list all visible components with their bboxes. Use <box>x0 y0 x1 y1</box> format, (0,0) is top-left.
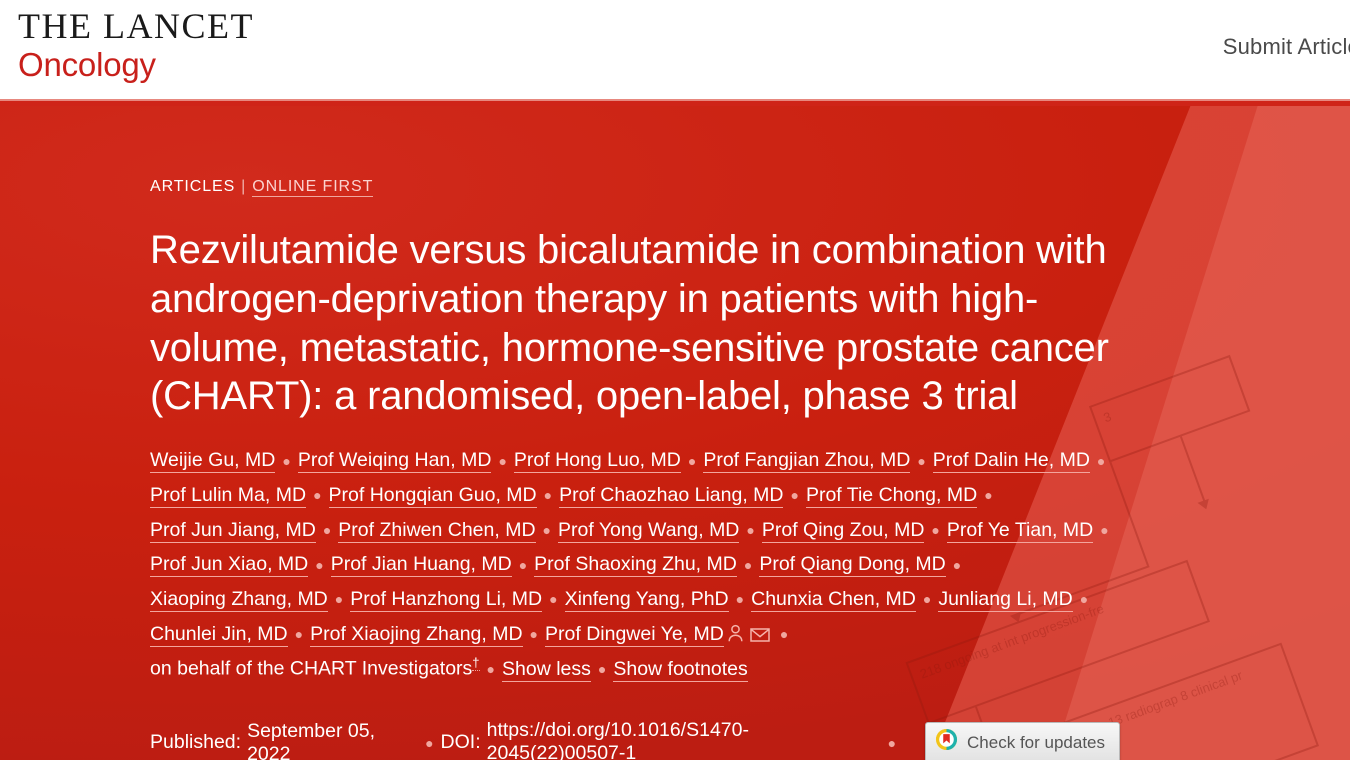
author-link[interactable]: Prof Tie Chong, MD <box>806 484 977 508</box>
crossmark-check-for-updates-button[interactable]: Check for updates <box>925 722 1120 760</box>
author-link[interactable]: Prof Yong Wang, MD <box>558 519 739 543</box>
author-separator-dot: ● <box>790 483 798 508</box>
author-separator-dot: ● <box>315 553 323 578</box>
kicker-online-first-link[interactable]: ONLINE FIRST <box>252 178 373 197</box>
author-separator-dot: ● <box>498 449 506 474</box>
published-date: September 05, 2022 <box>247 720 416 760</box>
author-link[interactable]: Prof Fangjian Zhou, MD <box>703 449 910 473</box>
doi-link[interactable]: https://doi.org/10.1016/S1470-2045(22)00… <box>487 719 881 760</box>
published-label: Published: <box>150 731 241 754</box>
author-separator-dot: ● <box>295 622 303 647</box>
author-link[interactable]: Prof Qiang Dong, MD <box>759 553 945 577</box>
author-link[interactable]: Chunlei Jin, MD <box>150 623 288 647</box>
author-separator-dot: ● <box>487 657 495 682</box>
author-link[interactable]: Prof Lulin Ma, MD <box>150 484 306 508</box>
author-separator-dot: ● <box>736 587 744 612</box>
submit-article-link[interactable]: Submit Article <box>1223 34 1350 59</box>
author-separator-dot: ● <box>544 483 552 508</box>
article-hero: 3 218 ongoing at int progression-fre 27 … <box>0 106 1350 760</box>
site-header: THE LANCET Oncology Submit Article <box>0 0 1350 106</box>
author-separator-dot: ● <box>1097 449 1105 474</box>
author-separator-dot: ● <box>282 449 290 474</box>
person-icon[interactable] <box>727 624 744 643</box>
brand-title: THE LANCET <box>18 8 254 44</box>
author-separator-dot: ● <box>984 483 992 508</box>
author-separator-dot: ● <box>519 553 527 578</box>
author-link[interactable]: Xiaoping Zhang, MD <box>150 588 328 612</box>
author-link[interactable]: Junliang Li, MD <box>938 588 1072 612</box>
doi-label: DOI: <box>441 731 481 754</box>
author-separator-dot: ● <box>335 587 343 612</box>
show-footnotes-link[interactable]: Show footnotes <box>613 658 747 682</box>
author-separator-dot: ● <box>953 553 961 578</box>
author-separator-dot: ● <box>1080 587 1088 612</box>
author-separator-dot: ● <box>549 587 557 612</box>
artwork-connector <box>1180 436 1206 502</box>
author-link[interactable]: Prof Zhiwen Chen, MD <box>338 519 535 543</box>
author-link[interactable]: Prof Hongqian Guo, MD <box>329 484 537 508</box>
artwork-arrow <box>1198 499 1212 512</box>
author-separator-dot: ● <box>931 518 939 543</box>
author-link[interactable]: Prof Qing Zou, MD <box>762 519 925 543</box>
site-logo[interactable]: THE LANCET Oncology <box>18 8 254 81</box>
author-separator-dot: ● <box>543 518 551 543</box>
crossmark-icon <box>935 728 958 757</box>
kicker-separator: | <box>241 178 246 195</box>
author-separator-dot: ● <box>688 449 696 474</box>
author-link[interactable]: Prof Jian Huang, MD <box>331 553 512 577</box>
author-link[interactable]: Prof Ye Tian, MD <box>947 519 1093 543</box>
author-separator-dot: ● <box>530 622 538 647</box>
group-authorship-dagger[interactable]: † <box>472 655 479 671</box>
article-meta: Published: September 05, 2022 ● DOI: htt… <box>150 719 1120 760</box>
author-separator-dot: ● <box>744 553 752 578</box>
header-actions: Submit Article <box>1223 34 1350 60</box>
author-separator-dot: ● <box>1100 518 1108 543</box>
author-link[interactable]: Prof Shaoxing Zhu, MD <box>534 553 737 577</box>
brand-subtitle: Oncology <box>18 48 254 81</box>
author-link[interactable]: Prof Hong Luo, MD <box>514 449 681 473</box>
envelope-icon[interactable] <box>750 627 770 643</box>
author-link[interactable]: Prof Jun Jiang, MD <box>150 519 316 543</box>
author-link[interactable]: Prof Hanzhong Li, MD <box>350 588 542 612</box>
author-link[interactable]: Prof Dalin He, MD <box>933 449 1090 473</box>
author-link[interactable]: Chunxia Chen, MD <box>751 588 916 612</box>
page-title: Rezvilutamide versus bicalutamide in com… <box>150 226 1120 421</box>
author-link[interactable]: Weijie Gu, MD <box>150 449 275 473</box>
author-link[interactable]: Prof Jun Xiao, MD <box>150 553 308 577</box>
author-separator-dot: ● <box>313 483 321 508</box>
author-list: Weijie Gu, MD●Prof Weiqing Han, MD●Prof … <box>150 443 1120 686</box>
crossmark-label: Check for updates <box>967 733 1105 753</box>
author-link[interactable]: Prof Xiaojing Zhang, MD <box>310 623 522 647</box>
meta-separator-dot: ● <box>888 735 896 751</box>
author-link[interactable]: Prof Chaozhao Liang, MD <box>559 484 783 508</box>
author-link-corresponding[interactable]: Prof Dingwei Ye, MD <box>545 623 724 647</box>
meta-separator-dot: ● <box>425 735 433 751</box>
author-separator-dot: ● <box>746 518 754 543</box>
author-link[interactable]: Prof Weiqing Han, MD <box>298 449 492 473</box>
author-link[interactable]: Xinfeng Yang, PhD <box>565 588 729 612</box>
hero-content: ARTICLES|ONLINE FIRST Rezvilutamide vers… <box>0 106 1120 760</box>
author-separator-dot: ● <box>598 657 606 682</box>
author-separator-dot: ● <box>780 622 788 647</box>
show-less-link[interactable]: Show less <box>502 658 591 682</box>
group-authorship: on behalf of the CHART Investigators <box>150 658 472 680</box>
author-separator-dot: ● <box>323 518 331 543</box>
author-separator-dot: ● <box>923 587 931 612</box>
kicker-article-type: ARTICLES <box>150 178 235 195</box>
article-kicker: ARTICLES|ONLINE FIRST <box>150 178 1120 196</box>
author-separator-dot: ● <box>917 449 925 474</box>
